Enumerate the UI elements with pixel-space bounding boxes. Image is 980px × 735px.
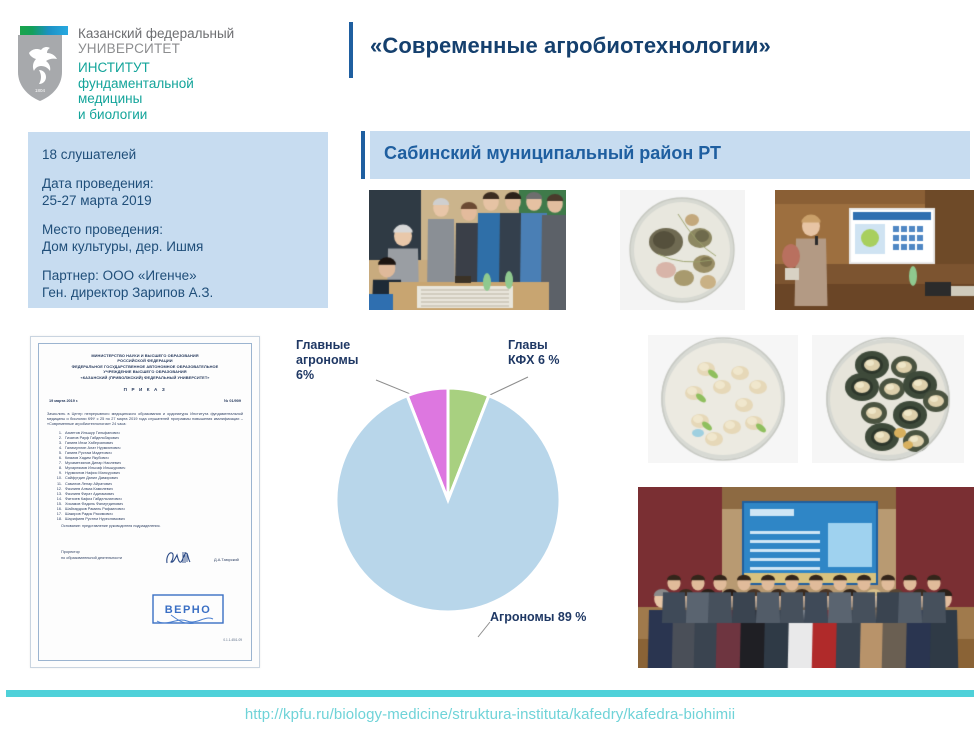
- slide-canvas: 1804 Казанский федеральный УНИВЕРСИТЕТ И…: [0, 0, 980, 735]
- logo-institute-line-2: фундаментальной медицины: [78, 76, 242, 107]
- doc-code: 0.1.1.45\1.09: [223, 638, 242, 642]
- pie-slices: [336, 388, 560, 612]
- profession-pie-chart: Главные агрономы 6% Главы КФХ 6 % Агроно…: [290, 332, 640, 652]
- pie-label-chief-agronomists: Главные агрономы 6%: [296, 338, 358, 383]
- footer-url[interactable]: http://kpfu.ru/biology-medicine/struktur…: [0, 706, 980, 723]
- place-value: Дом культуры, дер. Ишмя: [42, 239, 203, 254]
- pie-label-kfh-line2: КФХ 6 %: [508, 353, 559, 368]
- doc-body-text: Зачислить в Центр непрерывного медицинск…: [47, 412, 243, 428]
- doc-ministry-5: «КАЗАНСКИЙ (ПРИВОЛЖСКИЙ) ФЕДЕРАЛЬНЫЙ УНИ…: [47, 375, 243, 380]
- doc-basis: Основание: представление руководителя по…: [47, 524, 243, 528]
- logo-line-1: Казанский федеральный: [78, 26, 242, 41]
- date-label: Дата проведения:: [42, 176, 154, 191]
- petri-dish-mold-photo: [620, 190, 745, 310]
- group-photo: [638, 487, 974, 668]
- footer-rule: [6, 690, 974, 697]
- svg-text:1804: 1804: [35, 88, 46, 93]
- logo-line-2: УНИВЕРСИТЕТ: [78, 41, 242, 56]
- pie-label-chief-line1: Главные: [296, 338, 358, 353]
- svg-text:ВЕРНО: ВЕРНО: [165, 604, 212, 616]
- logo-institute-line-3: и биологии: [78, 107, 242, 123]
- verno-stamp-icon: ВЕРНО: [151, 591, 231, 638]
- subtitle-band: Сабинский муниципальный район РТ: [370, 131, 970, 179]
- page-title: «Современные агробиотехнологии»: [370, 33, 771, 59]
- place-label: Место проведения:: [42, 222, 163, 237]
- doc-signer-name: Д.А.Таюрский: [214, 550, 239, 562]
- kfu-logo: 1804 Казанский федеральный УНИВЕРСИТЕТ И…: [12, 26, 242, 111]
- doc-date: 19 марта 2019 г.: [49, 399, 78, 403]
- workshop-table-photo: [369, 190, 566, 310]
- listeners-count: 18 слушателей: [42, 146, 328, 163]
- doc-order-word: П Р И К А З: [47, 387, 243, 392]
- petri-dish-seeds-clean-photo: [648, 335, 798, 463]
- kfu-shield-icon: 1804: [12, 26, 68, 104]
- leader-line-agronomists: [478, 622, 490, 637]
- logo-institute-line-1: ИНСТИТУТ: [78, 60, 242, 76]
- order-document-image: МИНИСТЕРСТВО НАУКИ И ВЫСШЕГО ОБРАЗОВАНИЯ…: [30, 336, 260, 668]
- title-accent-bar: [349, 22, 353, 78]
- pie-label-agronomists: Агрономы 89 %: [490, 610, 586, 625]
- lecturer-presentation-photo: [775, 190, 974, 310]
- event-info-panel: 18 слушателей Дата проведения: 25-27 мар…: [28, 132, 328, 308]
- subtitle-text: Сабинский муниципальный район РТ: [384, 143, 721, 164]
- petri-dish-seeds-mold-photo: [812, 335, 964, 463]
- pie-label-kfh-line1: Главы: [508, 338, 559, 353]
- subtitle-accent-bar: [361, 131, 365, 179]
- pie-label-chief-line3: 6%: [296, 368, 358, 383]
- date-value: 25-27 марта 2019: [42, 193, 152, 208]
- pie-label-kfh-heads: Главы КФХ 6 %: [508, 338, 559, 368]
- doc-number: № 01/909: [224, 399, 241, 403]
- doc-participant-item: 18.Шарифиев Рустем Нуреслямович: [47, 517, 243, 522]
- doc-participant-list: 1.Ахметов Ильшур Гильфанович2.Гизатов Ра…: [47, 431, 243, 523]
- pie-label-chief-line2: агрономы: [296, 353, 358, 368]
- partner-director: Ген. директор Зарипов А.З.: [42, 285, 213, 300]
- partner-label: Партнер: ООО «Игенче»: [42, 268, 197, 283]
- doc-signer-title-2: по образовательной деятельности: [61, 556, 122, 561]
- signature-icon: [164, 550, 194, 571]
